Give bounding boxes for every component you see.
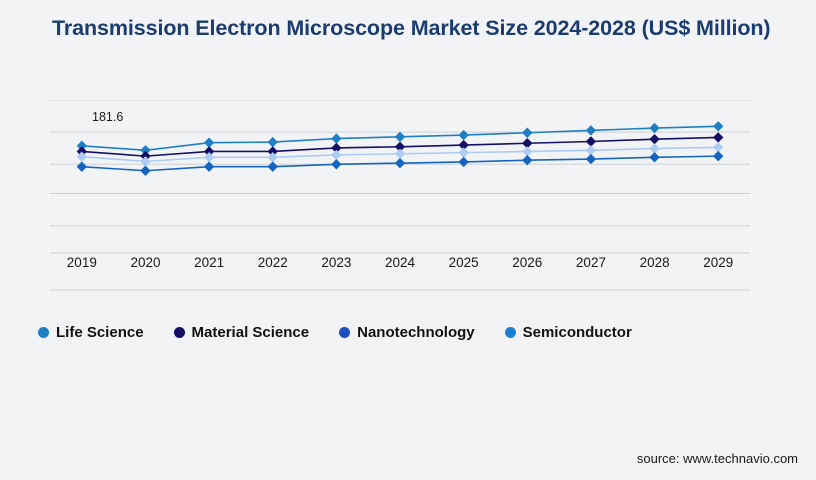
data-point-marker[interactable] [649, 123, 659, 133]
legend-item-nanotechnology[interactable]: Nanotechnology [339, 324, 475, 341]
data-point-marker[interactable] [395, 132, 405, 142]
data-point-marker[interactable] [649, 134, 659, 144]
x-axis-tick-2027: 2027 [559, 255, 623, 279]
chart-page: Transmission Electron Microscope Market … [0, 0, 816, 480]
data-point-marker[interactable] [204, 161, 214, 171]
chart-legend: Life ScienceMaterial ScienceNanotechnolo… [38, 324, 632, 341]
data-point-marker[interactable] [458, 147, 468, 157]
data-point-marker[interactable] [204, 152, 214, 162]
legend-item-label: Nanotechnology [357, 324, 475, 341]
data-point-marker[interactable] [586, 125, 596, 135]
data-point-marker[interactable] [713, 121, 723, 131]
data-point-marker[interactable] [140, 156, 150, 166]
x-axis-tick-2022: 2022 [241, 255, 305, 279]
legend-item-label: Material Science [192, 324, 310, 341]
legend-item-material-science[interactable]: Material Science [174, 324, 310, 341]
data-point-marker[interactable] [395, 158, 405, 168]
data-point-marker[interactable] [458, 157, 468, 167]
legend-item-life-science[interactable]: Life Science [38, 324, 144, 341]
data-point-marker[interactable] [649, 152, 659, 162]
x-axis-tick-2021: 2021 [177, 255, 241, 279]
data-point-marker[interactable] [331, 159, 341, 169]
x-axis-tick-2023: 2023 [305, 255, 369, 279]
plot-area [50, 100, 750, 252]
legend-item-label: Semiconductor [523, 324, 632, 341]
source-attribution: source: www.technavio.com [637, 451, 798, 466]
data-point-marker[interactable] [268, 137, 278, 147]
series-layer [50, 100, 750, 252]
x-axis-tick-2019: 2019 [50, 255, 114, 279]
data-point-marker[interactable] [395, 149, 405, 159]
legend-dot-icon [339, 327, 350, 338]
data-point-marker[interactable] [77, 152, 87, 162]
x-axis-tick-2024: 2024 [368, 255, 432, 279]
x-axis-tick-2025: 2025 [432, 255, 496, 279]
data-label-annotation: 181.6 [92, 110, 123, 124]
data-point-marker[interactable] [522, 155, 532, 165]
legend-item-semiconductor[interactable]: Semiconductor [505, 324, 632, 341]
data-point-marker[interactable] [458, 130, 468, 140]
data-point-marker[interactable] [268, 152, 278, 162]
legend-dot-icon [174, 327, 185, 338]
data-point-marker[interactable] [77, 161, 87, 171]
x-axis-tick-2026: 2026 [495, 255, 559, 279]
data-point-marker[interactable] [331, 133, 341, 143]
data-point-marker[interactable] [713, 151, 723, 161]
legend-dot-icon [38, 327, 49, 338]
data-point-marker[interactable] [522, 128, 532, 138]
data-point-marker[interactable] [586, 154, 596, 164]
data-point-marker[interactable] [331, 150, 341, 160]
data-point-marker[interactable] [268, 161, 278, 171]
page-title: Transmission Electron Microscope Market … [52, 14, 792, 43]
data-point-marker[interactable] [140, 166, 150, 176]
x-axis: 2019202020212022202320242025202620272028… [50, 255, 750, 279]
legend-item-label: Life Science [56, 324, 144, 341]
data-point-marker[interactable] [713, 132, 723, 142]
x-axis-tick-2028: 2028 [623, 255, 687, 279]
x-axis-tick-2029: 2029 [686, 255, 750, 279]
x-axis-tick-2020: 2020 [114, 255, 178, 279]
legend-dot-icon [505, 327, 516, 338]
